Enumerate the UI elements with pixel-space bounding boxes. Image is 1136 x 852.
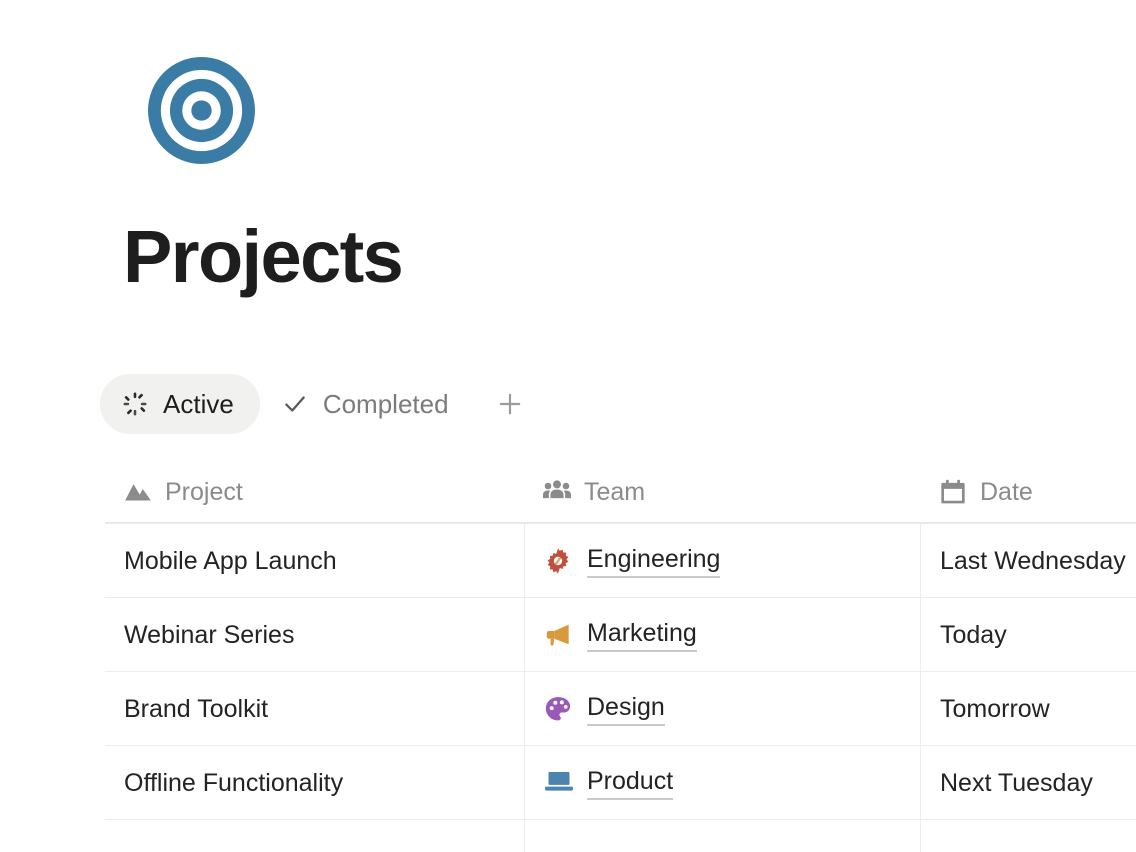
calendar-icon [939, 478, 967, 506]
cell-date[interactable]: Tomorrow [920, 672, 1136, 746]
projects-table: Project Team [105, 462, 1136, 852]
cell-team[interactable]: Design [524, 672, 920, 746]
date-value: Today [940, 621, 1007, 650]
date-value: Last Wednesday [940, 547, 1126, 576]
table-row[interactable] [105, 820, 1136, 852]
megaphone-emoji [544, 621, 574, 649]
table-row[interactable]: Mobile App Launch Engineering Last W [105, 524, 1136, 598]
table-header-row: Project Team [105, 462, 1136, 524]
table-row[interactable]: Brand Toolkit Design Tomorrow [105, 672, 1136, 746]
palette-emoji [544, 695, 574, 723]
check-icon [282, 391, 308, 417]
laptop-emoji [544, 769, 574, 797]
date-value: Tomorrow [940, 695, 1050, 724]
cell-team[interactable]: Marketing [524, 598, 920, 672]
cell-team[interactable]: Product [524, 746, 920, 820]
tab-active[interactable]: Active [100, 374, 260, 434]
tab-active-label: Active [163, 389, 234, 420]
project-name: Brand Toolkit [124, 695, 268, 724]
team-link[interactable]: Design [587, 693, 665, 726]
tab-completed[interactable]: Completed [260, 374, 475, 434]
team-link[interactable]: Engineering [587, 545, 720, 578]
date-value: Next Tuesday [940, 769, 1093, 798]
cell-project[interactable]: Mobile App Launch [105, 524, 524, 598]
table-row[interactable]: Offline Functionality Product Next Tuesd… [105, 746, 1136, 820]
project-name: Mobile App Launch [124, 547, 337, 576]
cell-team[interactable] [524, 820, 920, 852]
tab-completed-label: Completed [323, 389, 449, 420]
bullseye-target-icon [148, 57, 255, 164]
team-link[interactable]: Product [587, 767, 673, 800]
column-header-date[interactable]: Date [920, 461, 1136, 523]
spinner-icon [122, 391, 148, 417]
column-header-team-label: Team [584, 478, 645, 507]
cell-date[interactable]: Last Wednesday [920, 524, 1136, 598]
column-header-date-label: Date [980, 478, 1033, 507]
tab-bar: Active Completed [100, 374, 539, 434]
add-tab-button[interactable] [481, 374, 539, 434]
column-header-team[interactable]: Team [524, 461, 920, 523]
column-header-project-label: Project [165, 478, 243, 507]
mountains-icon [124, 478, 152, 506]
cell-date[interactable]: Today [920, 598, 1136, 672]
cell-project[interactable]: Webinar Series [105, 598, 524, 672]
project-name: Offline Functionality [124, 769, 343, 798]
cell-project[interactable] [105, 820, 524, 852]
cell-date[interactable] [920, 820, 1136, 852]
cell-date[interactable]: Next Tuesday [920, 746, 1136, 820]
gear-emoji [544, 547, 574, 575]
page-title: Projects [123, 212, 402, 302]
cell-project[interactable]: Offline Functionality [105, 746, 524, 820]
cell-team[interactable]: Engineering [524, 524, 920, 598]
project-name: Webinar Series [124, 621, 294, 650]
people-group-icon [543, 478, 571, 506]
plus-icon [497, 391, 523, 417]
projects-page: Projects Active [0, 0, 1136, 852]
column-header-project[interactable]: Project [105, 461, 524, 523]
cell-project[interactable]: Brand Toolkit [105, 672, 524, 746]
table-row[interactable]: Webinar Series Marketing Today [105, 598, 1136, 672]
team-link[interactable]: Marketing [587, 619, 697, 652]
